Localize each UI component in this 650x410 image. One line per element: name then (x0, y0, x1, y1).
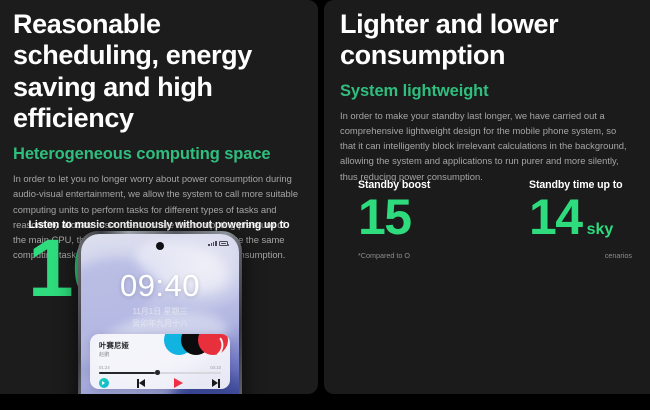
lockscreen-date-line1: 11月1日 星期三 (81, 306, 239, 318)
music-player-card[interactable]: 叶赛尼娅 赵鹏 01:24 04:10 (90, 334, 230, 389)
left-panel-title: Reasonable scheduling, energy saving and… (13, 9, 291, 134)
stat-value: 14 (529, 192, 582, 243)
previous-track-icon[interactable] (136, 379, 147, 388)
next-track-icon[interactable] (210, 379, 221, 388)
track-times: 01:24 04:10 (99, 365, 221, 370)
lockscreen-date-line2: 癸卯年九月十八 (81, 318, 239, 330)
status-bar (208, 241, 228, 246)
stats-footnote: *Compared to O cenarios (358, 251, 632, 260)
play-icon[interactable] (174, 378, 183, 388)
phone-screen: 09:40 11月1日 星期三 癸卯年九月十八 叶赛尼娅 赵鹏 01:24 04… (81, 234, 239, 394)
stat-value: 15 (358, 192, 411, 243)
time-total: 04:10 (210, 365, 221, 370)
left-feature-panel: Reasonable scheduling, energy saving and… (0, 0, 318, 394)
stat-standby-time: Standby time up to 14 sky (529, 179, 623, 243)
lockscreen-clock: 09:40 (81, 268, 239, 304)
right-panel-title: Lighter and lower consumption (340, 9, 608, 72)
right-panel-body: In order to make your standby last longe… (340, 108, 634, 184)
right-feature-panel: Lighter and lower consumption System lig… (324, 0, 650, 394)
stat-value-wrap: 15 (358, 192, 430, 243)
right-copy-block: Lighter and lower consumption System lig… (324, 0, 650, 184)
music-quality-icon[interactable] (99, 378, 109, 388)
signal-icon (208, 241, 216, 246)
right-panel-subtitle: System lightweight (340, 82, 634, 101)
battery-icon (219, 241, 228, 246)
track-title: 叶赛尼娅 (99, 341, 129, 351)
track-artist: 赵鹏 (99, 351, 109, 358)
album-art (162, 334, 230, 365)
stat-standby-boost: Standby boost 15 (358, 179, 430, 243)
footnote-left: *Compared to O (358, 251, 410, 260)
stat-value-wrap: 14 sky (529, 192, 623, 243)
time-elapsed: 01:24 (99, 365, 110, 370)
bottom-letterbox (0, 394, 650, 410)
progress-slider[interactable] (99, 372, 221, 374)
playback-controls (99, 378, 221, 388)
front-camera-punchhole-icon (156, 242, 164, 250)
footnote-right: cenarios (605, 251, 632, 260)
lockscreen-date: 11月1日 星期三 癸卯年九月十八 (81, 306, 239, 329)
slide-stage: Reasonable scheduling, energy saving and… (0, 0, 650, 410)
left-phone-mockup: 09:40 11月1日 星期三 癸卯年九月十八 叶赛尼娅 赵鹏 01:24 04… (78, 231, 242, 394)
left-panel-subtitle: Heterogeneous computing space (13, 145, 304, 164)
stat-unit: sky (587, 222, 614, 238)
